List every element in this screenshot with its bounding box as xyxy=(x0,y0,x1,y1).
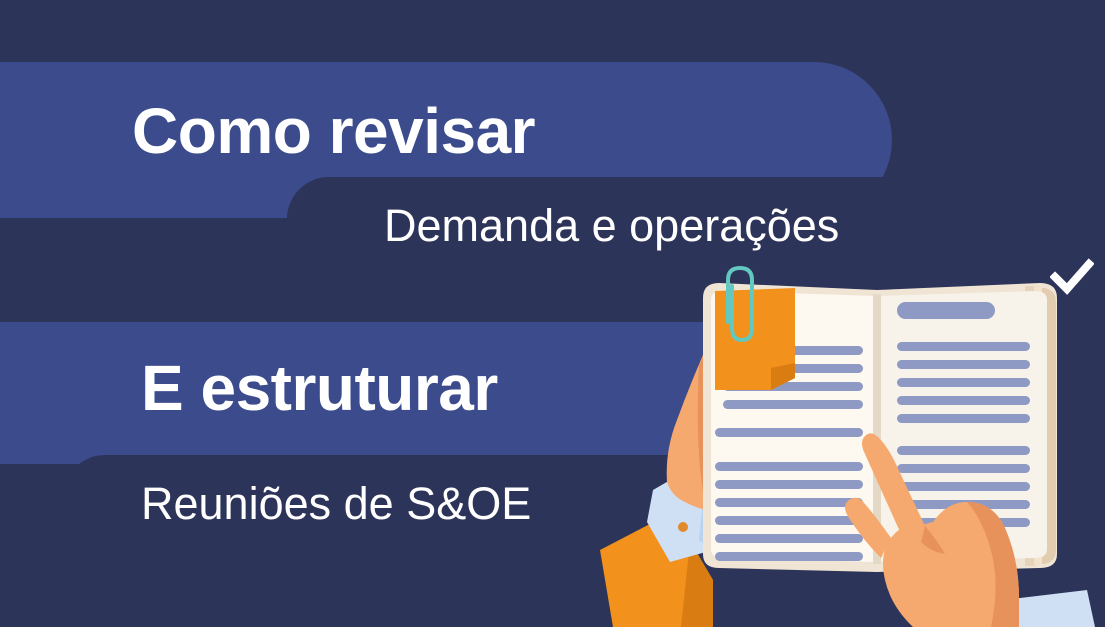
page-subtitle-secondary: Reuniões de S&OE xyxy=(141,481,531,526)
hand-holding-icon xyxy=(600,336,721,627)
page-title-primary: Como revisar xyxy=(132,99,535,163)
page-subtitle-primary: Demanda e operações xyxy=(384,203,839,248)
check-icon xyxy=(1050,258,1094,302)
page-title-secondary: E estruturar xyxy=(141,356,498,420)
open-book-illustration xyxy=(595,250,1105,627)
slide-canvas: Como revisar Demanda e operações E estru… xyxy=(0,0,1105,627)
